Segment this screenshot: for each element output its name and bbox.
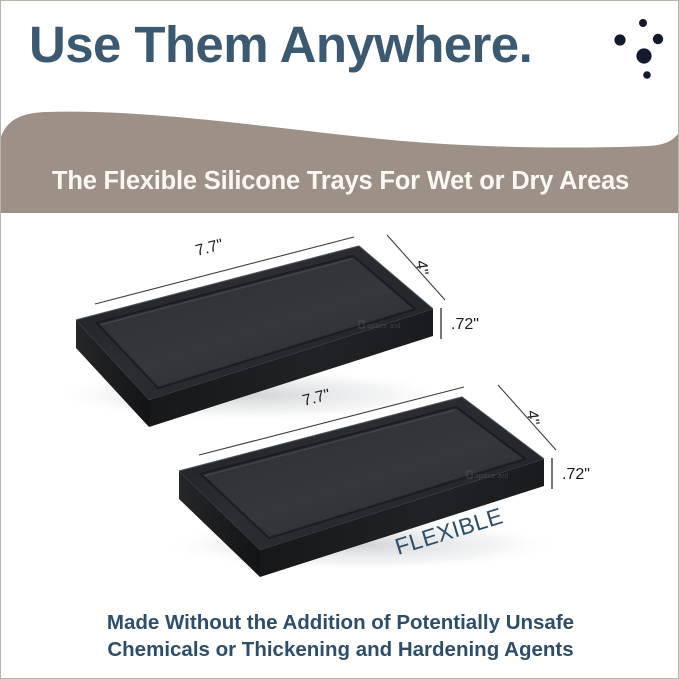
tray-top-height-dimension: .72" bbox=[441, 308, 479, 339]
tray-bottom-height-dimension: .72" bbox=[552, 458, 590, 489]
dot-cluster-icon bbox=[601, 11, 671, 81]
tray-top-height-label: .72" bbox=[451, 316, 479, 333]
svg-text:space aid: space aid bbox=[475, 473, 509, 480]
footer-line-2: Chemicals or Thickening and Hardening Ag… bbox=[1, 636, 679, 663]
footer-text-block: Made Without the Addition of Potentially… bbox=[1, 609, 679, 664]
tray-top-length-label: 7.7" bbox=[194, 236, 225, 259]
tray-bottom-height-label: .72" bbox=[562, 466, 590, 483]
product-illustration: 7.7" 4" .72" bbox=[1, 215, 679, 610]
tray-top-group: 7.7" 4" .72" bbox=[51, 235, 479, 427]
subtitle-text: The Flexible Silicone Trays For Wet or D… bbox=[1, 97, 679, 215]
svg-text:space aid: space aid bbox=[367, 323, 401, 330]
footer-line-1: Made Without the Addition of Potentially… bbox=[1, 609, 679, 636]
subtitle-banner: The Flexible Silicone Trays For Wet or D… bbox=[1, 97, 679, 215]
infographic-page: Use Them Anywhere. The Flexible Silicone… bbox=[0, 0, 679, 679]
tray-bottom-width-label: 4" bbox=[523, 409, 542, 426]
tray-top-width-label: 4" bbox=[412, 259, 431, 276]
page-title: Use Them Anywhere. bbox=[29, 19, 532, 70]
